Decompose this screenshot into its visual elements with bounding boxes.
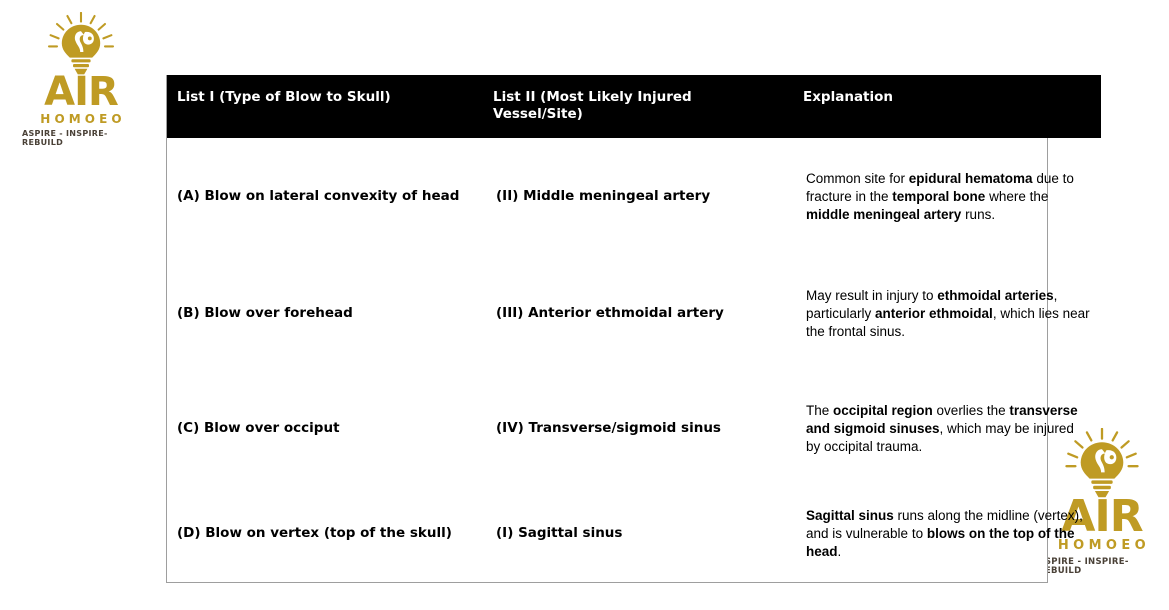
cell-explanation: Sagittal sinus runs along the midline (v… <box>796 486 1101 582</box>
table-row: (D) Blow on vertex (top of the skull) (I… <box>167 486 1101 582</box>
cell-list-ii: (III) Anterior ethmoidal artery <box>486 256 796 372</box>
table-row: (C) Blow over occiput (IV) Transverse/si… <box>167 372 1101 486</box>
matching-table: List I (Type of Blow to Skull) List II (… <box>167 75 1101 582</box>
cell-explanation: May result in injury to ethmoidal arteri… <box>796 256 1101 372</box>
cell-list-i: (C) Blow over occiput <box>167 372 486 486</box>
cell-list-i: (D) Blow on vertex (top of the skull) <box>167 486 486 582</box>
table-row: (A) Blow on lateral convexity of head (I… <box>167 138 1101 256</box>
cell-list-ii: (I) Sagittal sinus <box>486 486 796 582</box>
column-header-list-i: List I (Type of Blow to Skull) <box>167 75 486 138</box>
brand-tagline: ASPIRE - INSPIRE- REBUILD <box>22 130 140 148</box>
cell-list-i: (A) Blow on lateral convexity of head <box>167 138 486 256</box>
table-body: (A) Blow on lateral convexity of head (I… <box>167 138 1101 582</box>
brand-subtitle: HOMOEO <box>36 113 125 126</box>
lightbulb-question-icon <box>45 12 117 76</box>
cell-list-ii: (II) Middle meningeal artery <box>486 138 796 256</box>
column-header-list-ii: List II (Most Likely Injured Vessel/Site… <box>486 75 796 138</box>
table-header-row: List I (Type of Blow to Skull) List II (… <box>167 75 1101 138</box>
column-header-explanation: Explanation <box>796 75 1101 138</box>
cell-list-i: (B) Blow over forehead <box>167 256 486 372</box>
table-header: List I (Type of Blow to Skull) List II (… <box>167 75 1101 138</box>
cell-explanation: The occipital region overlies the transv… <box>796 372 1101 486</box>
table-row: (B) Blow over forehead (III) Anterior et… <box>167 256 1101 372</box>
brand-logo-top-left: AIR HOMOEO ASPIRE - INSPIRE- REBUILD <box>22 12 140 148</box>
cell-list-ii: (IV) Transverse/sigmoid sinus <box>486 372 796 486</box>
brand-name: AIR <box>44 74 118 111</box>
matching-table-container: List I (Type of Blow to Skull) List II (… <box>166 75 1048 583</box>
cell-explanation: Common site for epidural hematoma due to… <box>796 138 1101 256</box>
